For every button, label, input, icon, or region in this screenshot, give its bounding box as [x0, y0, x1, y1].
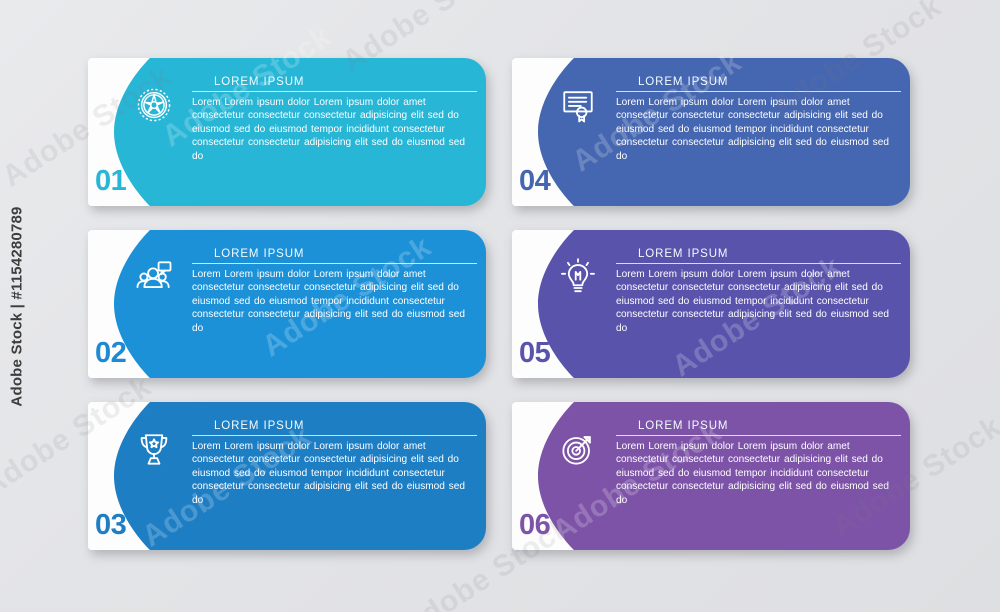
gear-star-icon: [132, 83, 176, 127]
panel-number: 04: [519, 165, 550, 198]
panel-heading: LOREM IPSUM: [192, 248, 477, 260]
trophy-icon: [132, 427, 176, 471]
panel-text-block: LOREM IPSUM Lorem Lorem ipsum dolor Lore…: [616, 420, 901, 507]
panel-heading: LOREM IPSUM: [616, 248, 901, 260]
side-watermark: Adobe Stock | #1154280789: [2, 0, 32, 612]
panel-divider: [192, 263, 477, 264]
panel-divider: [616, 91, 901, 92]
panel-heading: LOREM IPSUM: [192, 76, 477, 88]
panel-number: 02: [95, 337, 126, 370]
target-dart-icon: [556, 427, 600, 471]
panel-heading: LOREM IPSUM: [616, 420, 901, 432]
panel-heading: LOREM IPSUM: [616, 76, 901, 88]
side-watermark-label: Adobe Stock | #1154280789: [9, 206, 26, 406]
panel-body: Lorem Lorem ipsum dolor Lorem ipsum dolo…: [616, 268, 901, 335]
panel-body: Lorem Lorem ipsum dolor Lorem ipsum dolo…: [192, 440, 477, 507]
certificate-icon: [556, 83, 600, 127]
panel-number: 05: [519, 337, 550, 370]
lightbulb-icon: [556, 255, 600, 299]
group-chat-icon: [132, 255, 176, 299]
panel-divider: [192, 435, 477, 436]
panel-text-block: LOREM IPSUM Lorem Lorem ipsum dolor Lore…: [616, 248, 901, 335]
panel-body: Lorem Lorem ipsum dolor Lorem ipsum dolo…: [192, 268, 477, 335]
panel-text-block: LOREM IPSUM Lorem Lorem ipsum dolor Lore…: [192, 420, 477, 507]
info-panel-06[interactable]: 06 LOREM IPSUM Lorem Lorem ipsum dolor L…: [512, 402, 910, 550]
infographic-board: 01 LOREM IPSUM Lorem Lorem ipsum dolor L…: [88, 58, 916, 554]
panel-divider: [616, 263, 901, 264]
info-panel-01[interactable]: 01 LOREM IPSUM Lorem Lorem ipsum dolor L…: [88, 58, 486, 206]
info-panel-02[interactable]: 02 LOREM IPSUM Lorem Lorem ipsum dolor L…: [88, 230, 486, 378]
info-panel-05[interactable]: 05 LOREM IPSUM Lorem Lorem ipsum dolor L…: [512, 230, 910, 378]
panel-divider: [192, 91, 477, 92]
panel-number: 06: [519, 509, 550, 542]
panel-body: Lorem Lorem ipsum dolor Lorem ipsum dolo…: [192, 96, 477, 163]
panel-number: 03: [95, 509, 126, 542]
panel-text-block: LOREM IPSUM Lorem Lorem ipsum dolor Lore…: [616, 76, 901, 163]
panel-heading: LOREM IPSUM: [192, 420, 477, 432]
panel-text-block: LOREM IPSUM Lorem Lorem ipsum dolor Lore…: [192, 76, 477, 163]
panel-text-block: LOREM IPSUM Lorem Lorem ipsum dolor Lore…: [192, 248, 477, 335]
info-panel-04[interactable]: 04 LOREM IPSUM Lorem Lorem ipsum dolor L…: [512, 58, 910, 206]
panel-body: Lorem Lorem ipsum dolor Lorem ipsum dolo…: [616, 440, 901, 507]
panel-number: 01: [95, 165, 126, 198]
info-panel-03[interactable]: 03 LOREM IPSUM Lorem Lorem ipsum dolor L…: [88, 402, 486, 550]
panel-divider: [616, 435, 901, 436]
panel-body: Lorem Lorem ipsum dolor Lorem ipsum dolo…: [616, 96, 901, 163]
